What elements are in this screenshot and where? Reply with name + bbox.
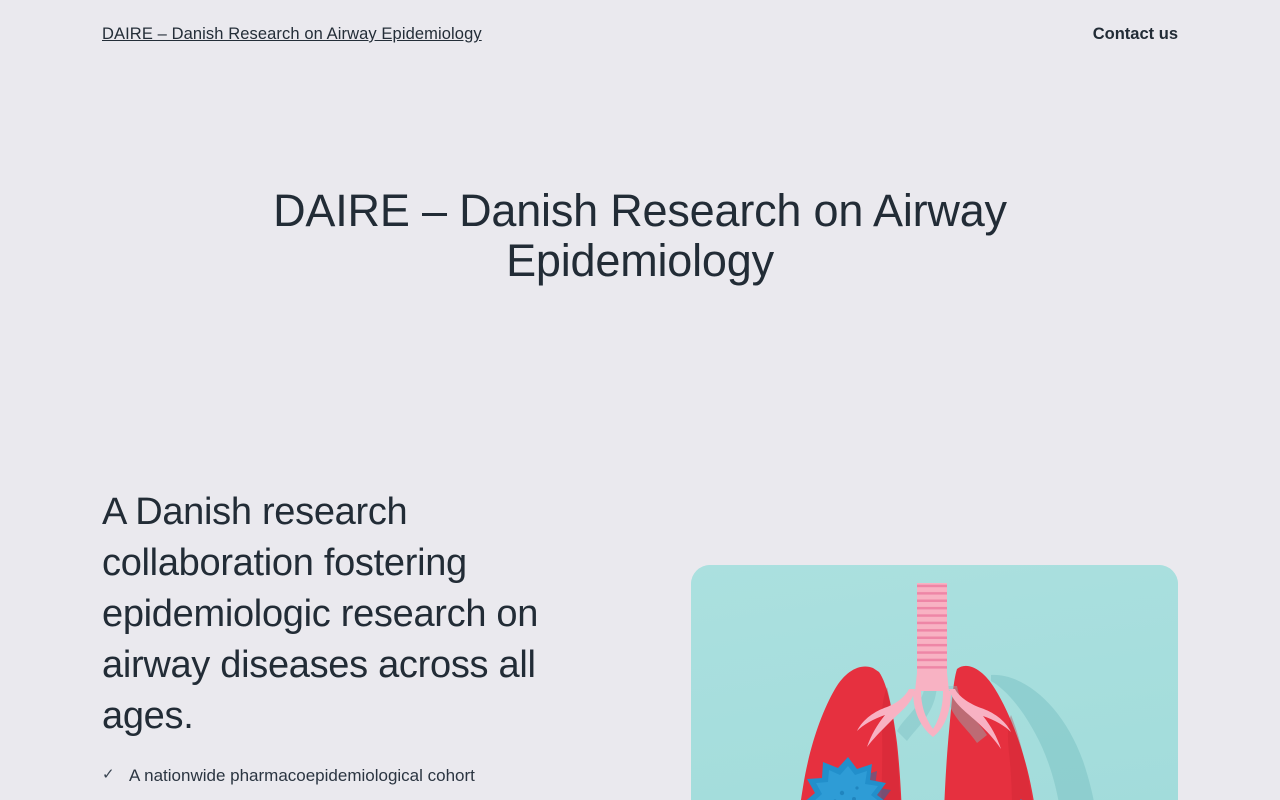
brand-link[interactable]: DAIRE – Danish Research on Airway Epidem…	[102, 25, 482, 44]
intro-section: A Danish research collaboration fosterin…	[0, 487, 1280, 800]
list-item-label: A nationwide pharmacoepidemiological coh…	[129, 764, 475, 789]
top-navigation-bar: DAIRE – Danish Research on Airway Epidem…	[0, 0, 1280, 69]
check-icon: ✓	[102, 764, 116, 786]
lungs-paper-craft-illustration	[691, 565, 1178, 800]
page-title: DAIRE – Danish Research on Airway Epidem…	[180, 186, 1100, 285]
intro-lede: A Danish research collaboration fosterin…	[102, 487, 560, 742]
nav-links: Contact us	[1093, 25, 1178, 44]
list-item: ✓ A nationwide pharmacoepidemiological c…	[102, 764, 560, 789]
nav-link-contact-us[interactable]: Contact us	[1093, 25, 1178, 44]
hero-section: DAIRE – Danish Research on Airway Epidem…	[0, 186, 1280, 285]
intro-text-column: A Danish research collaboration fosterin…	[0, 487, 590, 788]
hero-image-card	[691, 565, 1178, 800]
intro-bullet-list: ✓ A nationwide pharmacoepidemiological c…	[102, 764, 560, 789]
